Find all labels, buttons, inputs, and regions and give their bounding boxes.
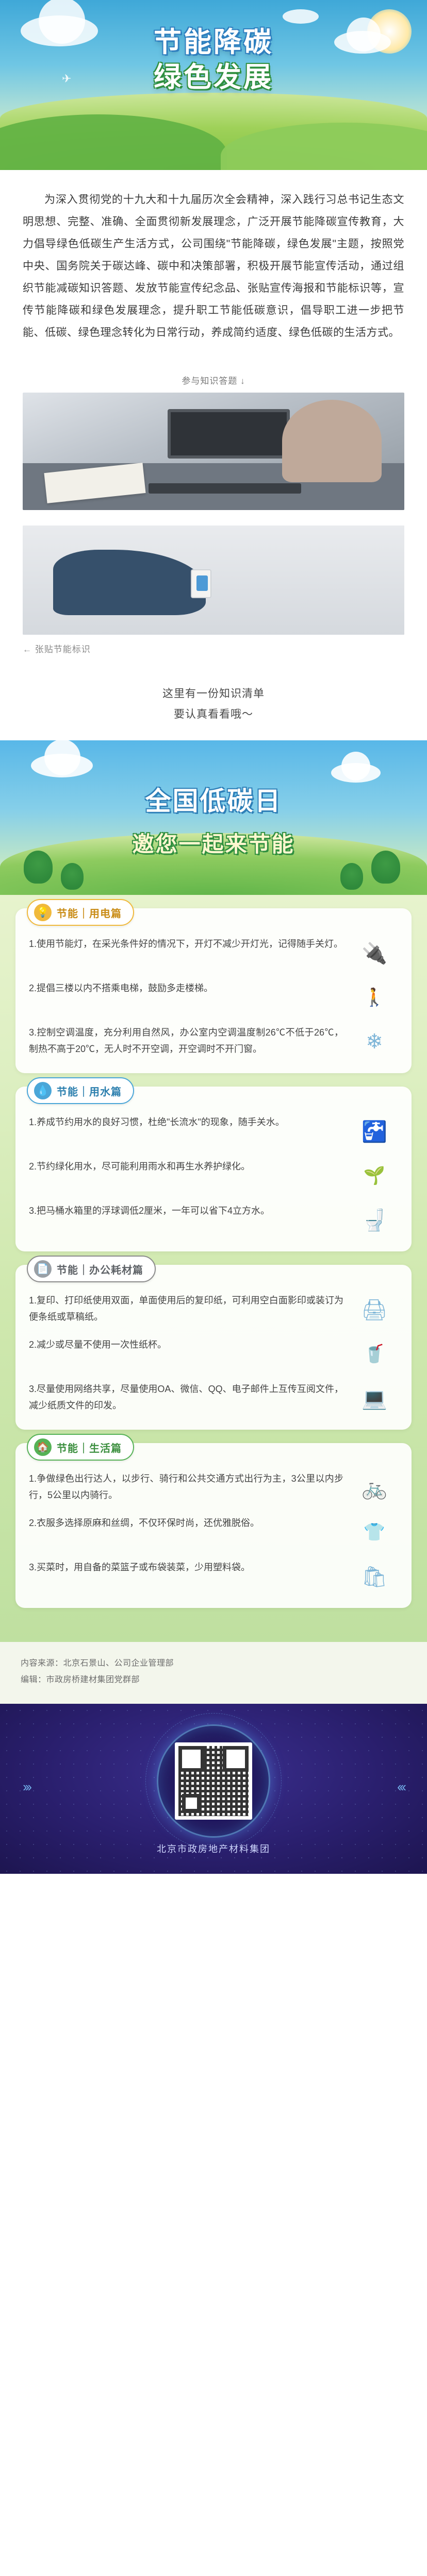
bicycle-icon: 🚲 bbox=[351, 1471, 398, 1505]
caption-sticker: ← 张贴节能标识 bbox=[23, 635, 404, 666]
tip-item: 2.衣服多选择原麻和丝绸，不仅环保时尚，还优雅脱俗。 👕 bbox=[29, 1515, 398, 1549]
tip-item: 1.使用节能灯，在采光条件好的情况下，开灯不减少开灯光，记得随手关灯。 🔌 bbox=[29, 936, 398, 970]
article-paragraph: 为深入贯彻党的十九大和十九届历次全会精神，深入践行习总书记生态文明思想、完整、准… bbox=[23, 189, 404, 344]
monitor-icon bbox=[168, 409, 290, 459]
person-shape bbox=[282, 400, 381, 482]
tip-title-water: 节能｜用水篇 bbox=[57, 1083, 122, 1098]
footer-text: 北京市政房地产材料集团 bbox=[0, 1842, 427, 1855]
light-switch-icon bbox=[191, 569, 211, 598]
paper-icon: 📄 bbox=[34, 1260, 52, 1278]
notice-block: 这里有一份知识清单 要认真看看哦～ bbox=[0, 666, 427, 740]
laptop-icon: 💻 bbox=[351, 1381, 398, 1415]
tip-header-electricity: 💡 节能｜用电篇 bbox=[27, 899, 134, 926]
cloud-icon bbox=[283, 9, 319, 24]
tips-container: 💡 节能｜用电篇 1.使用节能灯，在采光条件好的情况下，开灯不减少开灯光，记得随… bbox=[0, 895, 427, 1642]
tip-item: 3.尽量使用网络共享，尽量使用OA、微信、QQ、电子邮件上互传互阅文件，减少纸质… bbox=[29, 1381, 398, 1415]
footer-qr-block: ››› ‹‹‹ 北京市政房地产材料集团 bbox=[0, 1704, 427, 1874]
tip-title-office: 节能｜办公耗材篇 bbox=[57, 1262, 143, 1277]
credits-block: 内容来源：北京石景山、公司企业管理部 编辑：市政房桥建材集团党群部 bbox=[0, 1642, 427, 1704]
banner-title-line2: 邀您一起来节能 bbox=[0, 827, 427, 858]
tip-item-text: 2.衣服多选择原麻和丝绸，不仅环保时尚，还优雅脱俗。 bbox=[29, 1515, 343, 1532]
printer-icon: 🖨 bbox=[351, 1293, 398, 1327]
tip-item-text: 3.尽量使用网络共享，尽量使用OA、微信、QQ、电子邮件上互传互阅文件，减少纸质… bbox=[29, 1381, 343, 1414]
photo-block-sticker: ← 张贴节能标识 bbox=[0, 510, 427, 666]
keyboard-icon bbox=[149, 483, 301, 494]
tip-item: 2.减少或尽量不使用一次性纸杯。 🥤 bbox=[29, 1337, 398, 1371]
tip-header-life: 🏠 节能｜生活篇 bbox=[27, 1434, 134, 1461]
credits-source: 内容来源：北京石景山、公司企业管理部 bbox=[21, 1655, 406, 1672]
plug-icon: 🔌 bbox=[351, 936, 398, 970]
notice-line1: 这里有一份知识清单 bbox=[0, 684, 427, 704]
footer-arrows: ››› ‹‹‹ bbox=[0, 1779, 427, 1795]
tip-header-office: 📄 节能｜办公耗材篇 bbox=[27, 1256, 156, 1282]
stairs-icon: 🚶 bbox=[351, 980, 398, 1014]
tip-item-text: 3.控制空调温度，充分利用自然风，办公室内空调温度制26℃不低于26℃，制热不高… bbox=[29, 1025, 343, 1057]
tip-item: 2.提倡三楼以内不搭乘电梯，鼓励多走楼梯。 🚶 bbox=[29, 980, 398, 1014]
tip-item-text: 1.养成节约用水的良好习惯，杜绝"长流水"的现象，随手关水。 bbox=[29, 1114, 343, 1131]
lowcarbon-banner: 全国低碳日 邀您一起来节能 bbox=[0, 740, 427, 895]
house-icon: 🏠 bbox=[34, 1438, 52, 1456]
plant-watering-icon: 🌱 bbox=[351, 1159, 398, 1193]
hero-title: 节能降碳 绿色发展 bbox=[0, 25, 427, 94]
arrows-right: ‹‹‹ bbox=[397, 1779, 404, 1795]
tree-icon bbox=[340, 863, 363, 890]
lightbulb-icon: 💡 bbox=[34, 904, 52, 921]
tip-card-office: 📄 节能｜办公耗材篇 1.复印、打印纸使用双面，单面使用后的复印纸，可利用空白面… bbox=[15, 1265, 412, 1430]
tip-title-electricity: 节能｜用电篇 bbox=[57, 905, 122, 920]
tip-item-text: 2.减少或尽量不使用一次性纸杯。 bbox=[29, 1337, 343, 1353]
air-conditioner-icon: ❄ bbox=[351, 1025, 398, 1059]
qr-finder-icon bbox=[182, 1794, 201, 1812]
tip-item: 1.争做绿色出行达人，以步行、骑行和公共交通方式出行为主，3公里以内步行，5公里… bbox=[29, 1471, 398, 1505]
tip-header-water: 💧 节能｜用水篇 bbox=[27, 1077, 134, 1104]
water-drop-icon: 💧 bbox=[34, 1082, 52, 1099]
tip-item: 1.养成节约用水的良好习惯，杜绝"长流水"的现象，随手关水。 🚰 bbox=[29, 1114, 398, 1148]
tip-item-text: 3.把马桶水箱里的浮球调低2厘米，一年可以省下4立方水。 bbox=[29, 1203, 343, 1219]
paper-cup-icon: 🥤 bbox=[351, 1337, 398, 1371]
tip-item: 3.控制空调温度，充分利用自然风，办公室内空调温度制26℃不低于26℃，制热不高… bbox=[29, 1025, 398, 1059]
tip-item-text: 1.使用节能灯，在采光条件好的情况下，开灯不减少开灯光，记得随手关灯。 bbox=[29, 936, 343, 953]
banner-title: 全国低碳日 邀您一起来节能 bbox=[0, 781, 427, 858]
tip-card-water: 💧 节能｜用水篇 1.养成节约用水的良好习惯，杜绝"长流水"的现象，随手关水。 … bbox=[15, 1087, 412, 1251]
tip-title-life: 节能｜生活篇 bbox=[57, 1440, 122, 1455]
credits-editor: 编辑：市政房桥建材集团党群部 bbox=[21, 1672, 406, 1688]
tip-item: 3.把马桶水箱里的浮球调低2厘米，一年可以省下4立方水。 🚽 bbox=[29, 1203, 398, 1237]
notice-line2: 要认真看看哦～ bbox=[0, 704, 427, 725]
toilet-icon: 🚽 bbox=[351, 1203, 398, 1237]
hero-title-line1: 节能降碳 bbox=[0, 25, 427, 60]
tip-item: 3.买菜时，用自备的菜篮子或布袋装菜，少用塑料袋。 🛍 bbox=[29, 1560, 398, 1594]
shirt-icon: 👕 bbox=[351, 1515, 398, 1549]
cloud-icon bbox=[331, 763, 381, 783]
tip-item-text: 3.买菜时，用自备的菜篮子或布袋装菜，少用塑料袋。 bbox=[29, 1560, 343, 1576]
photo-block-quiz: 参与知识答题 ↓ bbox=[0, 359, 427, 510]
photo-sticker bbox=[23, 526, 404, 635]
hero-title-line2: 绿色发展 bbox=[0, 60, 427, 95]
tip-item-text: 1.争做绿色出行达人，以步行、骑行和公共交通方式出行为主，3公里以内步行，5公里… bbox=[29, 1471, 343, 1503]
caption-quiz: 参与知识答题 ↓ bbox=[23, 362, 404, 393]
article-body: 为深入贯彻党的十九大和十九届历次全会精神，深入践行习总书记生态文明思想、完整、准… bbox=[0, 170, 427, 359]
tip-item-text: 2.节约绿化用水，尽可能利用雨水和再生水养护绿化。 bbox=[29, 1159, 343, 1175]
tip-item-text: 1.复印、打印纸使用双面，单面使用后的复印纸，可利用空白面影印或装订为便条纸或草… bbox=[29, 1293, 343, 1325]
arrows-left: ››› bbox=[23, 1779, 30, 1795]
tree-icon bbox=[61, 863, 84, 890]
tip-card-electricity: 💡 节能｜用电篇 1.使用节能灯，在采光条件好的情况下，开灯不减少开灯光，记得随… bbox=[15, 908, 412, 1073]
tip-card-life: 🏠 节能｜生活篇 1.争做绿色出行达人，以步行、骑行和公共交通方式出行为主，3公… bbox=[15, 1443, 412, 1608]
tip-item: 2.节约绿化用水，尽可能利用雨水和再生水养护绿化。 🌱 bbox=[29, 1159, 398, 1193]
tip-item-text: 2.提倡三楼以内不搭乘电梯，鼓励多走楼梯。 bbox=[29, 980, 343, 997]
shopping-bag-icon: 🛍 bbox=[351, 1560, 398, 1594]
page-root: ✈ 节能降碳 绿色发展 为深入贯彻党的十九大和十九届历次全会精神，深入践行习总书… bbox=[0, 0, 427, 1874]
cloud-icon bbox=[31, 754, 93, 777]
photo-quiz bbox=[23, 393, 404, 510]
hero-banner: ✈ 节能降碳 绿色发展 bbox=[0, 0, 427, 170]
faucet-icon: 🚰 bbox=[351, 1114, 398, 1148]
tip-item: 1.复印、打印纸使用双面，单面使用后的复印纸，可利用空白面影印或装订为便条纸或草… bbox=[29, 1293, 398, 1327]
banner-title-line1: 全国低碳日 bbox=[0, 781, 427, 818]
